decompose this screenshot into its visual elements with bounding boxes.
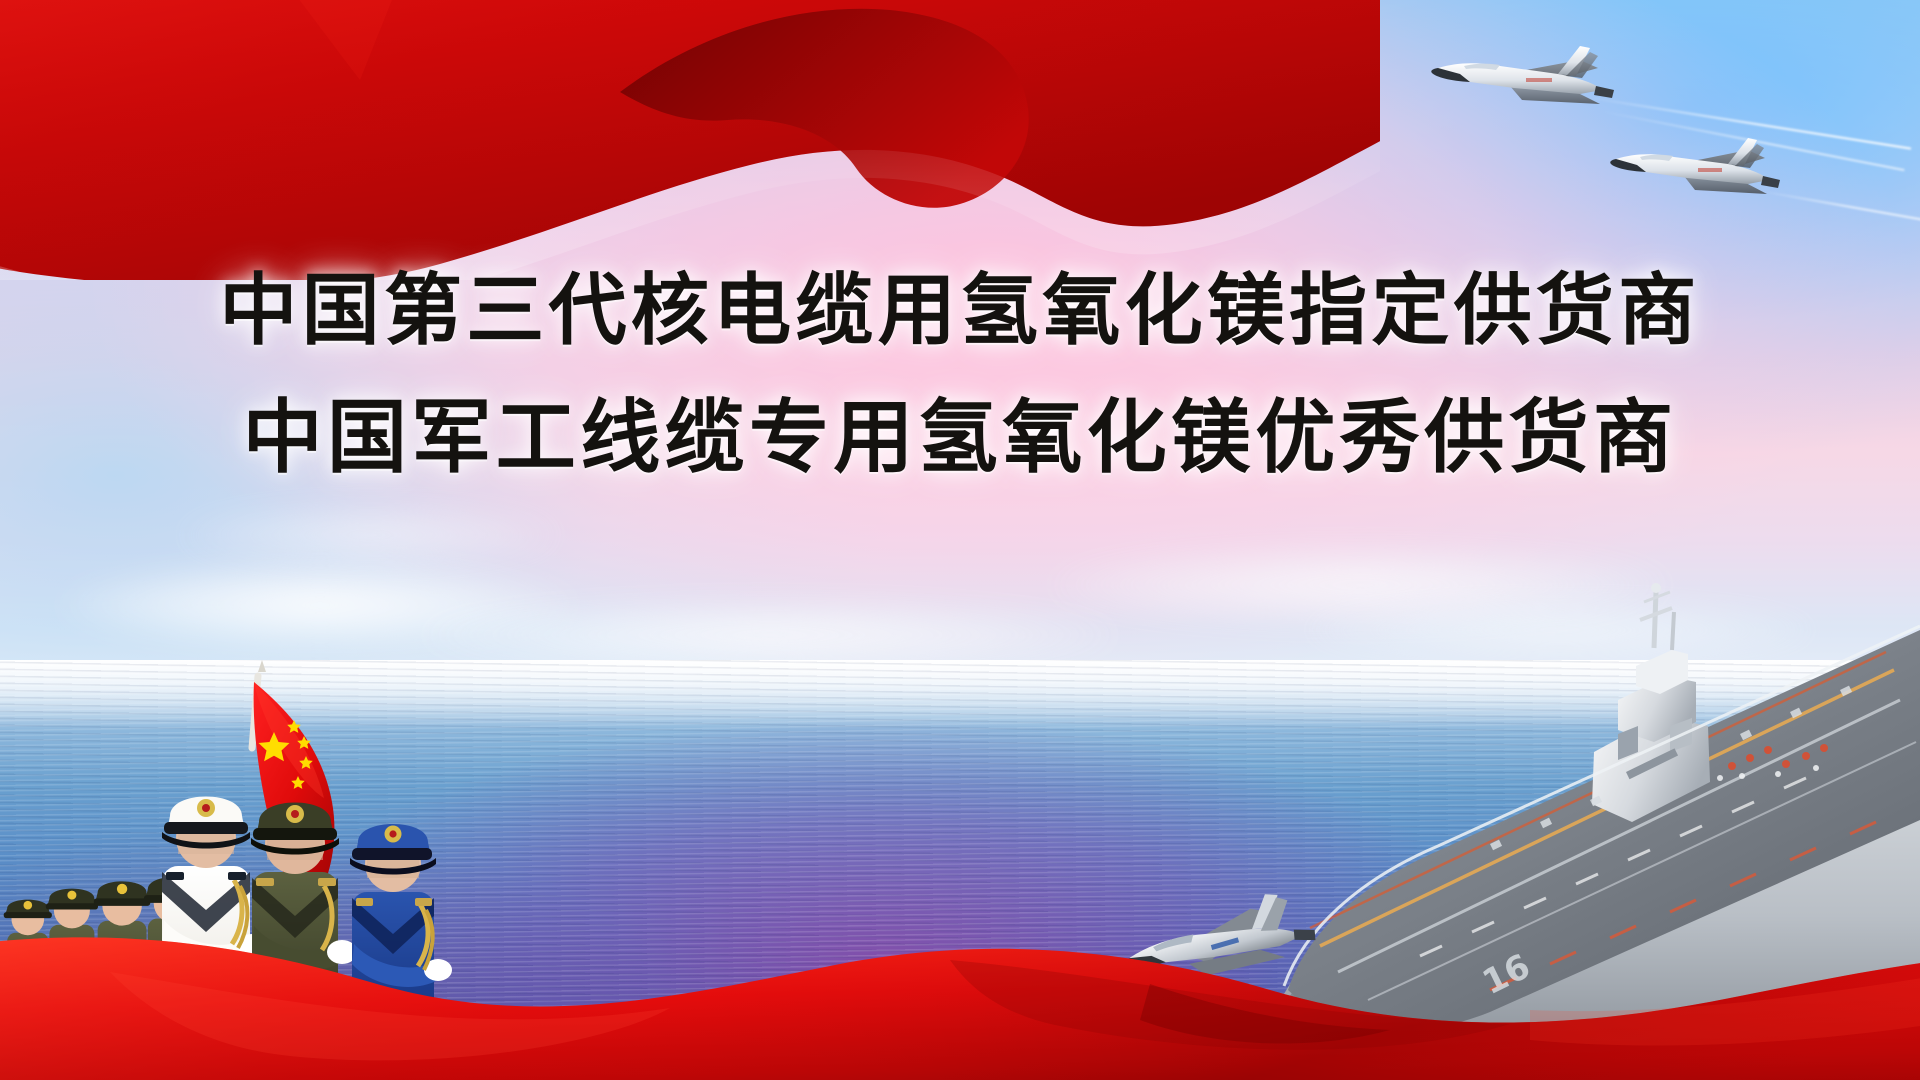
promotional-banner: 中国第三代核电缆用氢氧化镁指定供货商 中国军工线缆专用氢氧化镁优秀供货商: [0, 0, 1920, 1080]
ocean-surface: [0, 660, 1920, 1080]
water-ripples: [0, 660, 1920, 1080]
